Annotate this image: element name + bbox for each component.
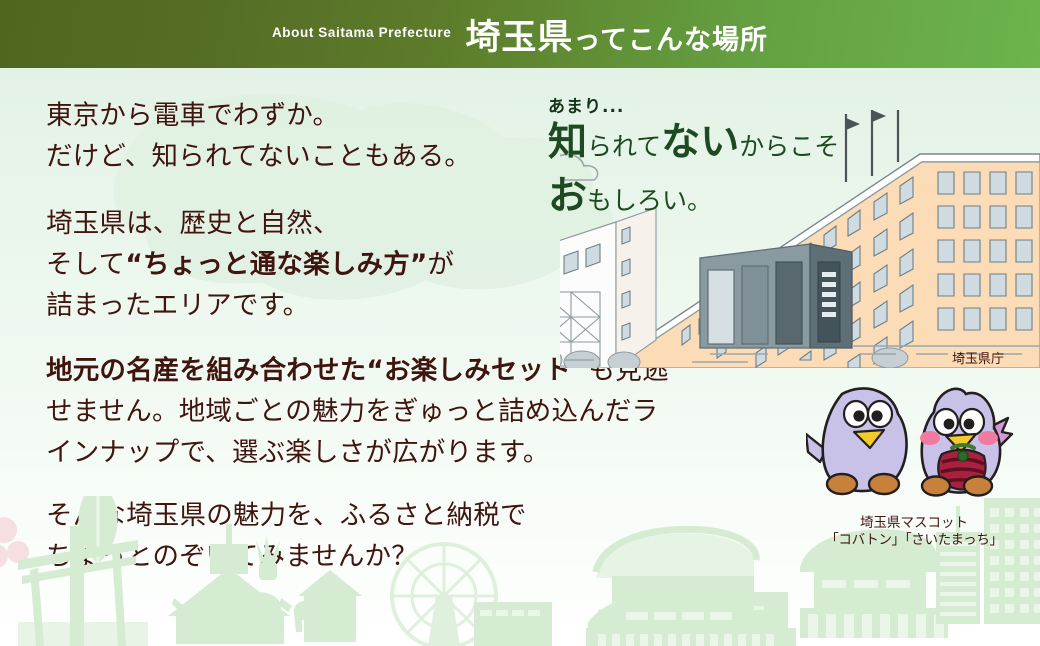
headline-line-2: おもしろい。 xyxy=(548,173,1018,227)
mascot-caption-line-2: 「コバトン」「さいたまっち」 xyxy=(806,532,1022,549)
hall-building-icon xyxy=(168,524,290,644)
tower-structure-icon xyxy=(18,526,148,646)
headline-o: お xyxy=(548,174,587,219)
header-content: About Saitama Prefecture 埼玉県ってこんな場所 xyxy=(0,0,1040,68)
headline-shi: 知 xyxy=(548,120,587,165)
headline-amari: あまり... xyxy=(548,92,1018,117)
low-building-icon xyxy=(474,602,552,646)
paragraph-3-line-2: せません。地域ごとの魅力をぎゅっと詰め込んだラ xyxy=(46,391,776,432)
page-title-sub: ってこんな場所 xyxy=(573,25,768,56)
entrance-pavilion xyxy=(700,244,852,348)
building-caption: 埼玉県庁 xyxy=(952,348,1004,367)
headline-line-1: 知られてないからこそ xyxy=(548,119,1018,173)
p2-text-a: そして xyxy=(46,249,125,280)
headline-karakoso: からこそ xyxy=(739,132,839,161)
paragraph-3-line-3: インナップで、選ぶ楽しさが広がります。 xyxy=(46,432,776,473)
headline-rarete: られて xyxy=(587,132,661,161)
p3-emphasis: “お楽しみセット” xyxy=(366,355,588,386)
page-header: About Saitama Prefecture 埼玉県ってこんな場所 xyxy=(0,0,1040,68)
headline-nai: ない xyxy=(661,120,739,165)
page-title-main: 埼玉県 xyxy=(465,18,573,58)
header-eyebrow: About Saitama Prefecture xyxy=(272,25,451,40)
mascot-caption: 埼玉県マスコット 「コバトン」「さいたまっち」 xyxy=(806,515,1022,549)
kobaton-mascot xyxy=(806,388,907,494)
p2-emphasis: “ちょっと通な楽しみ方” xyxy=(125,249,427,280)
mascot-illustration xyxy=(806,378,1022,518)
page-title: 埼玉県ってこんな場所 xyxy=(465,9,768,60)
headline-moshiroi: もしろい。 xyxy=(587,186,712,215)
p3-bold-a: 地元の名産を組み合わせた xyxy=(46,355,366,386)
poster-root: About Saitama Prefecture 埼玉県ってこんな場所 xyxy=(0,0,1040,646)
green-headline: あまり... 知られてないからこそ おもしろい。 xyxy=(548,92,1018,227)
paragraph-3: 地元の名産を組み合わせた“お楽しみセット”も見逃 せません。地域ごとの魅力をぎゅ… xyxy=(46,350,776,473)
p2-text-c: が xyxy=(428,249,455,280)
saitamacchi-mascot xyxy=(920,389,1012,496)
mascot-caption-line-1: 埼玉県マスコット xyxy=(806,515,1022,532)
plant-icon xyxy=(256,536,280,580)
arena-icon xyxy=(586,529,796,646)
